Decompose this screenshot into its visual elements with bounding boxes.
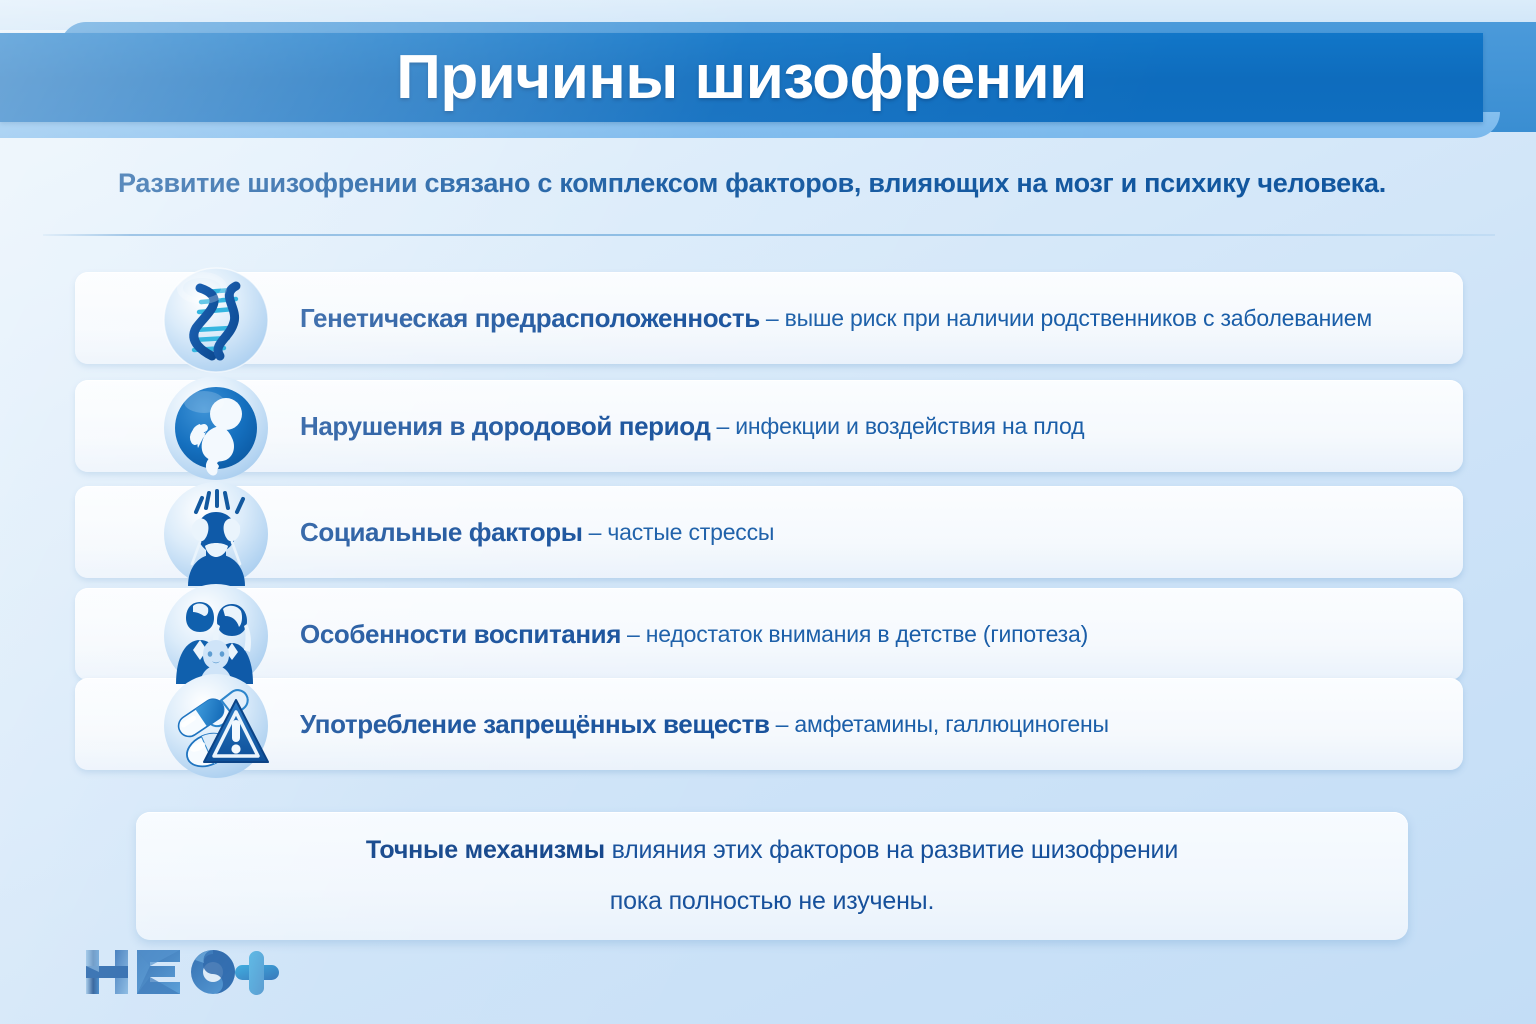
factor-detail: – инфекции и воздействия на плод xyxy=(716,413,1084,440)
factor-title: Социальные факторы xyxy=(300,517,583,548)
row-text: Генетическая предрасположенность – выше … xyxy=(300,272,1372,364)
conclusion-bold: Точные механизмы xyxy=(366,836,605,864)
factor-detail: – частые стрессы xyxy=(589,519,775,546)
conclusion-line-1: Точные механизмы влияния этих факторов н… xyxy=(366,838,1178,863)
pills-warning-icon xyxy=(160,670,272,782)
row-text: Социальные факторы – частые стрессы xyxy=(300,486,774,578)
list-item[interactable]: Нарушения в дородовой период – инфекции … xyxy=(75,380,1463,472)
dna-helix-icon xyxy=(160,264,272,376)
list-item[interactable]: Генетическая предрасположенность – выше … xyxy=(75,272,1463,364)
conclusion-line-2: пока полностью не изучены. xyxy=(610,889,934,914)
infographic-poster: Причины шизофрении Развитие шизофрении с… xyxy=(0,0,1536,1024)
factor-title: Генетическая предрасположенность xyxy=(300,303,760,334)
row-text: Нарушения в дородовой период – инфекции … xyxy=(300,380,1084,472)
logo-neo-plus[interactable] xyxy=(82,944,282,1006)
list-item[interactable]: Особенности воспитания – недостаток вним… xyxy=(75,588,1463,680)
factor-title: Особенности воспитания xyxy=(300,619,621,650)
factor-detail: – недостаток внимания в детстве (гипотез… xyxy=(627,621,1088,648)
factor-detail: – выше риск при наличии родственников с … xyxy=(766,305,1372,332)
factor-detail: – амфетамины, галлюциногены xyxy=(776,711,1109,738)
row-text: Особенности воспитания – недостаток вним… xyxy=(300,588,1088,680)
fetus-icon xyxy=(160,372,272,484)
stressed-person-icon xyxy=(160,478,272,590)
conclusion-box: Точные механизмы влияния этих факторов н… xyxy=(136,812,1408,940)
factor-title: Употребление запрещённых веществ xyxy=(300,709,770,740)
row-text: Употребление запрещённых веществ – амфет… xyxy=(300,678,1109,770)
list-item[interactable]: Социальные факторы – частые стрессы xyxy=(75,486,1463,578)
conclusion-rest: влияния этих факторов на развитие шизофр… xyxy=(612,836,1179,864)
factor-title: Нарушения в дородовой период xyxy=(300,411,710,442)
list-item[interactable]: Употребление запрещённых веществ – амфет… xyxy=(75,678,1463,770)
